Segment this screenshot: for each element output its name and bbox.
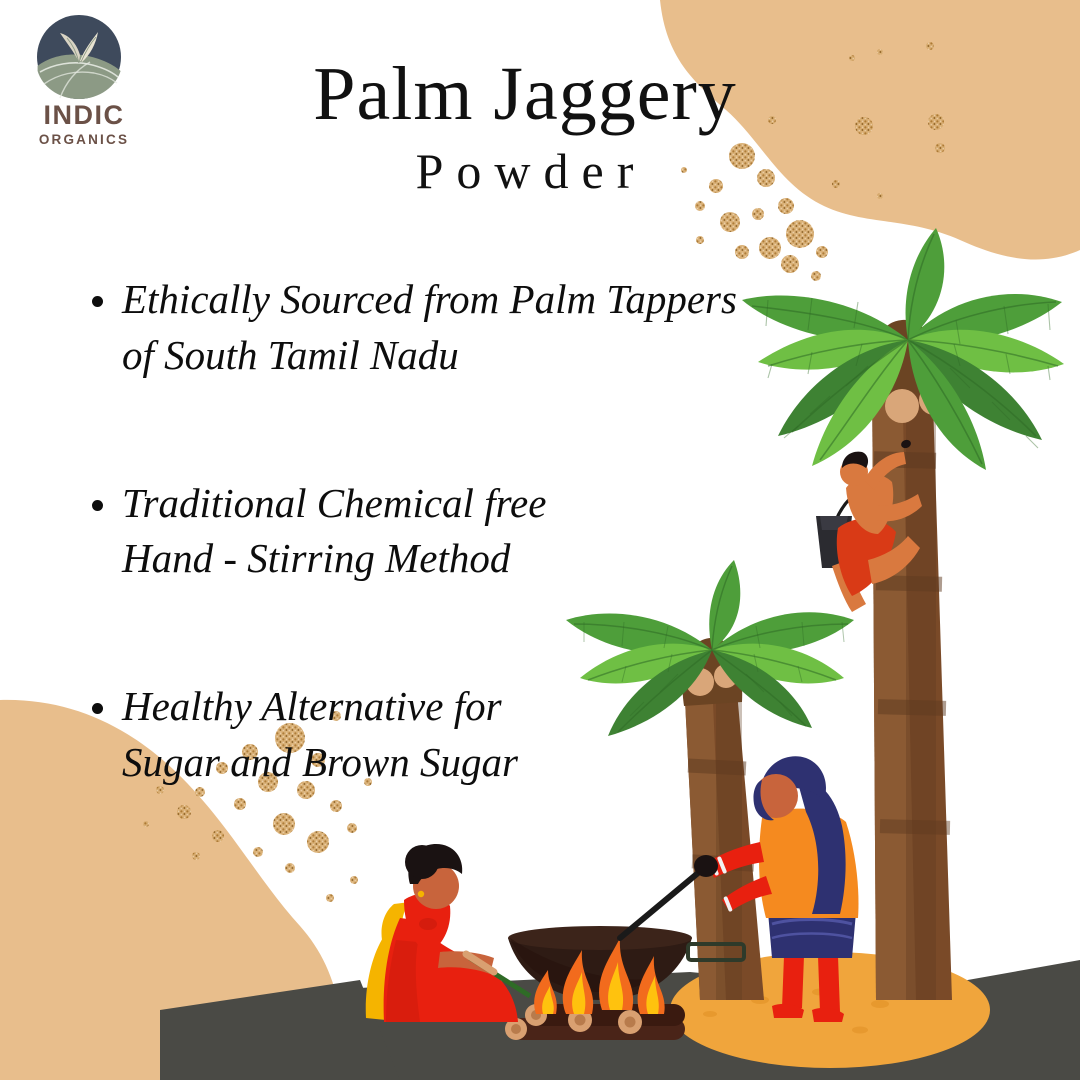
- stirring-ladle-grip: [694, 855, 718, 877]
- palm-jaggery-making-scene: [0, 0, 1080, 1080]
- coconut: [885, 389, 919, 423]
- ground-strip-left: [160, 980, 400, 1080]
- earring: [418, 891, 424, 897]
- stirring-ladle-handle: [620, 868, 704, 938]
- standing-woman-leg: [818, 956, 840, 1012]
- wok-rim: [508, 926, 692, 950]
- trunk-shade: [716, 680, 742, 1000]
- trunk-shade: [906, 370, 936, 1000]
- poster-canvas: INDIC ORGANICS Palm Jaggery Powder Ethic…: [0, 0, 1080, 1080]
- standing-woman-leg: [782, 956, 804, 1008]
- seated-woman-tending-fire: [366, 844, 530, 1022]
